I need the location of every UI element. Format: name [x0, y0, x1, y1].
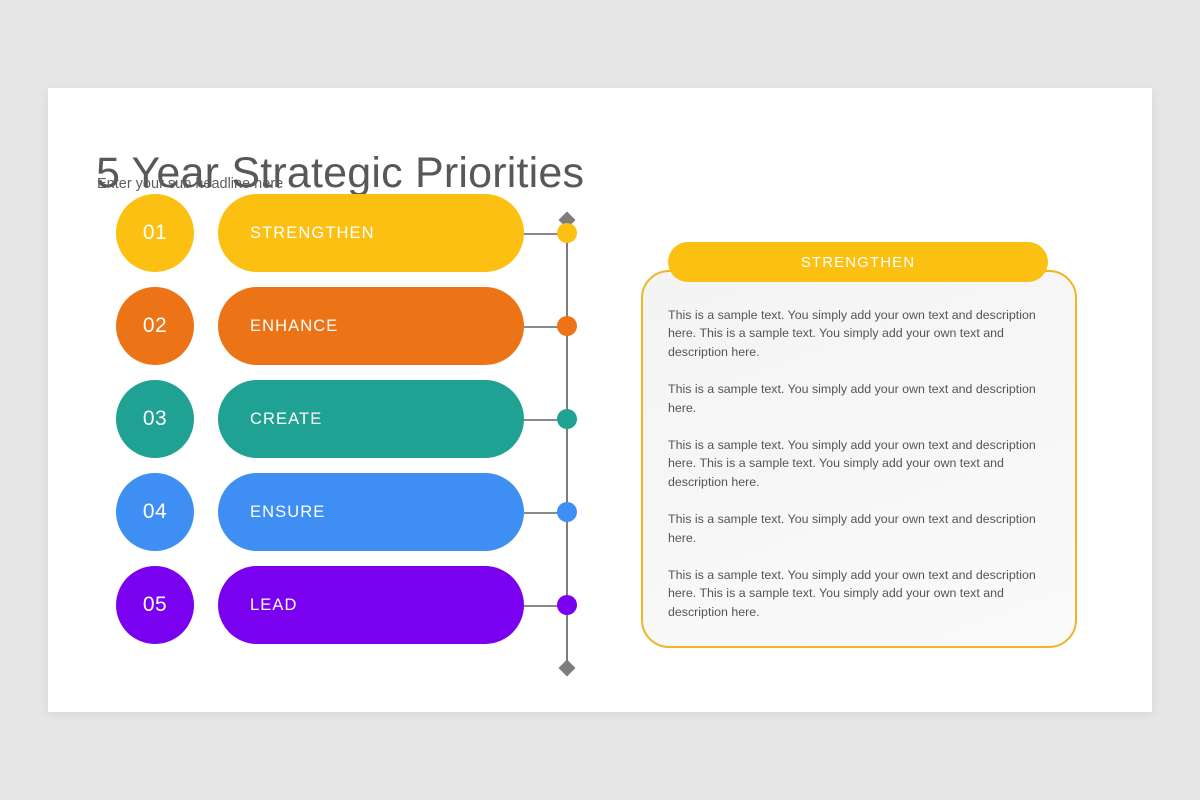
step-pill[interactable]: LEAD [218, 566, 524, 644]
detail-card-header[interactable]: STRENGTHEN [668, 242, 1048, 282]
detail-card-body: This is a sample text. You simply add yo… [668, 306, 1036, 621]
detail-paragraph: This is a sample text. You simply add yo… [668, 436, 1036, 491]
detail-paragraph: This is a sample text. You simply add yo… [668, 380, 1036, 417]
step-pill-label: ENSURE [250, 503, 325, 522]
slide-canvas: 5 Year Strategic Priorities Enter your s… [48, 88, 1152, 712]
step-pill-label: ENHANCE [250, 317, 338, 336]
timeline-node[interactable] [557, 409, 577, 429]
step-number-label: 05 [143, 593, 167, 617]
detail-paragraph: This is a sample text. You simply add yo… [668, 566, 1036, 621]
step-number-badge[interactable]: 05 [116, 566, 194, 644]
detail-paragraph: This is a sample text. You simply add yo… [668, 510, 1036, 547]
step-pill[interactable]: ENHANCE [218, 287, 524, 365]
step-pill-label: LEAD [250, 596, 298, 615]
step-number-label: 01 [143, 221, 167, 245]
step-number-label: 04 [143, 500, 167, 524]
step-pill[interactable]: CREATE [218, 380, 524, 458]
timeline-node[interactable] [557, 316, 577, 336]
step-number-badge[interactable]: 04 [116, 473, 194, 551]
detail-paragraph: This is a sample text. You simply add yo… [668, 306, 1036, 361]
step-number-label: 02 [143, 314, 167, 338]
step-number-badge[interactable]: 02 [116, 287, 194, 365]
step-pill-label: STRENGTHEN [250, 224, 375, 243]
step-number-label: 03 [143, 407, 167, 431]
timeline-node[interactable] [557, 595, 577, 615]
page-subtitle: Enter your sub headline here [97, 176, 283, 192]
step-pill[interactable]: STRENGTHEN [218, 194, 524, 272]
timeline-node[interactable] [557, 223, 577, 243]
step-number-badge[interactable]: 01 [116, 194, 194, 272]
step-pill-label: CREATE [250, 410, 322, 429]
step-number-badge[interactable]: 03 [116, 380, 194, 458]
detail-card-header-label: STRENGTHEN [801, 254, 915, 271]
timeline-cap-bottom-icon [559, 660, 576, 677]
step-pill[interactable]: ENSURE [218, 473, 524, 551]
timeline-node[interactable] [557, 502, 577, 522]
